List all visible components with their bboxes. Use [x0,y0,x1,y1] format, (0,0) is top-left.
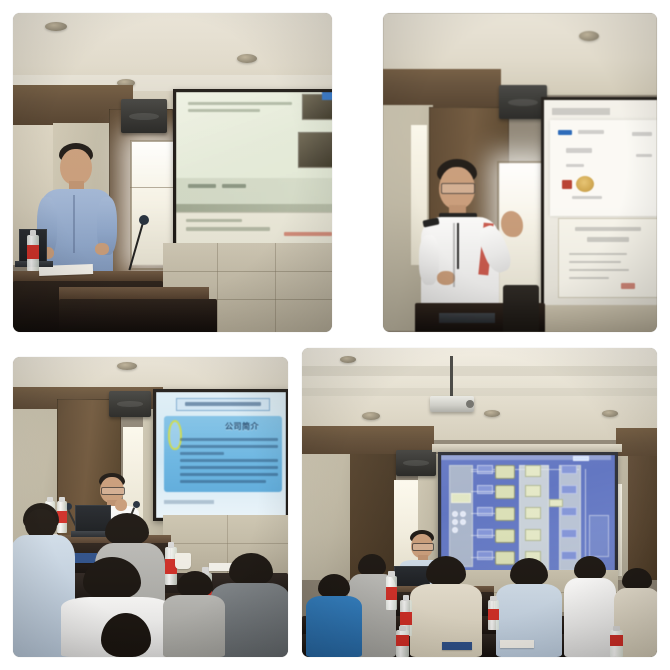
cert-line [569,277,609,279]
torso [306,596,362,657]
photo-bottom-left[interactable]: 公司简介 [13,357,288,657]
torso [564,578,616,657]
scada-block [477,507,493,516]
hand-at-chin [115,499,127,511]
scada-block [561,529,577,538]
cert-line [569,261,621,263]
slide-body: 公司简介 [164,416,282,492]
scada-pump [495,485,515,499]
scada-pump [495,507,515,521]
chair [503,285,539,332]
cert-paper [550,120,657,216]
cert-line [572,196,602,199]
arm-left [419,235,439,285]
tile-line [217,243,218,332]
bottle-cap [59,497,65,502]
scada-pump [495,465,515,479]
bottle-label [488,609,499,620]
scada-node [525,507,541,519]
ceiling-speaker [109,391,151,417]
projection-screen [173,89,332,247]
cert-line [566,164,584,167]
slide-footer [164,500,214,504]
projection-screen [541,97,657,311]
projection-screen: 公司简介 [153,389,288,521]
tile-line [163,271,332,272]
cert-seal-icon [576,176,594,192]
slide-company-intro: 公司简介 [156,392,286,518]
wall-speaker [499,85,547,119]
scada-tag [460,519,466,525]
hair [318,574,350,598]
microphone-head-icon [133,501,140,508]
tile-line [163,543,288,544]
bottle-cap [388,571,394,576]
water-bottle [488,600,499,630]
hair [83,557,141,599]
cert-stamp-icon [621,283,635,289]
laptop-base [439,313,495,323]
downlight-icon [117,362,137,370]
ceiling-speaker [121,99,167,133]
window-mullion [130,187,178,189]
scene-top-left [13,13,332,332]
bottle-cap [399,626,406,630]
torso [163,595,225,657]
bottle-label [27,245,39,259]
cert-line [578,130,604,134]
scada-node [525,465,541,477]
cert-line [566,148,592,153]
bottle-label [610,635,623,646]
photo-top-right[interactable] [383,13,657,332]
projector-lens-icon [466,400,474,408]
wall-panel-far-right [628,456,657,580]
water-bottle [27,235,39,271]
scada-link [471,535,495,536]
cert-line [569,269,629,271]
wall-wood-upper [383,69,501,109]
bottle-label [386,587,397,600]
audience-member [564,556,616,657]
audience-member [163,571,225,657]
hand-gesturing [501,211,523,237]
scada-link [471,513,495,514]
downlight-icon [484,410,500,417]
hand-right [95,243,109,255]
downlight-icon [340,356,356,363]
cert-line [636,154,652,157]
screen-housing [432,444,622,452]
screen-surface [544,100,657,308]
scada-pump [495,529,515,543]
scene-bottom-left: 公司简介 [13,357,288,657]
glasses-icon [101,487,125,495]
audience-member [89,613,163,657]
cert-line [587,237,629,242]
lower-wall [539,305,657,332]
glasses-icon [412,543,434,551]
hair [177,571,213,597]
hair [574,556,606,580]
scada-block [561,485,577,494]
cert-ribbon [562,180,572,189]
slide-header-box [176,398,270,411]
projector-mount [450,356,453,398]
downlight-icon [602,410,618,417]
scada-link [471,471,495,472]
scene-bottom-right [302,348,657,657]
cert-body-box [558,218,657,298]
bottle-label [396,635,409,646]
tile-line [275,243,276,332]
bottle-cap [30,230,37,236]
scene-top-right [383,13,657,332]
bottle-label [400,612,412,626]
bottle-cap [168,542,175,548]
glasses-icon [441,183,475,194]
slide-title: 公司简介 [210,422,274,432]
bottle-cap [490,596,496,601]
downlight-icon [237,54,257,63]
microphone-head-icon [139,215,149,225]
notebook [442,642,472,650]
scada-bus [585,469,586,567]
desk-front [59,299,217,332]
scada-tag [460,511,466,517]
slide-top-left [176,92,332,244]
scada-legend [549,499,563,507]
scada-block [477,529,493,538]
bottle-cap [613,626,620,630]
scada-tag [452,511,458,517]
wall-speaker [396,450,436,476]
photo-top-left[interactable] [13,13,332,332]
screen-surface [176,92,332,244]
scada-alarm-panel [589,515,609,557]
downlight-icon [579,31,599,41]
water-bottle [396,630,409,657]
hair [105,513,149,545]
scada-block [477,485,493,494]
water-bottle [610,630,623,657]
scada-node [525,485,541,497]
downlight-icon [45,22,67,31]
bottle-cap [47,497,53,502]
hair [426,556,466,586]
notebook [500,640,534,648]
hair [101,613,151,657]
scada-block [561,507,577,516]
slide-certificate [544,100,657,308]
scada-status-btn [573,456,589,461]
hair [358,554,386,576]
clip-microphone-cable [457,223,459,269]
scada-tag [452,519,458,525]
scada-node [525,529,541,541]
hair [510,558,548,586]
scada-tag [451,493,471,503]
photo-collage: 公司简介 [0,0,670,670]
hair [229,553,273,585]
cert-line [632,132,652,136]
cup [175,553,191,569]
water-bottle [386,576,397,610]
cert-logo-icon [558,130,572,135]
ceiling-band [302,366,657,376]
cert-line [575,227,641,231]
scada-block [561,465,577,474]
cert-header-bar [552,108,610,115]
scada-link [471,491,495,492]
bottle-cap [403,595,410,601]
head [60,149,92,185]
cert-line [569,253,627,255]
downlight-icon [362,412,380,420]
audience-member [306,574,362,657]
scada-block [477,465,493,474]
ceiling-band [302,388,657,396]
scada-tag [452,527,458,533]
screen-surface: 公司简介 [156,392,286,518]
hair [622,568,652,590]
photo-bottom-right[interactable] [302,348,657,657]
